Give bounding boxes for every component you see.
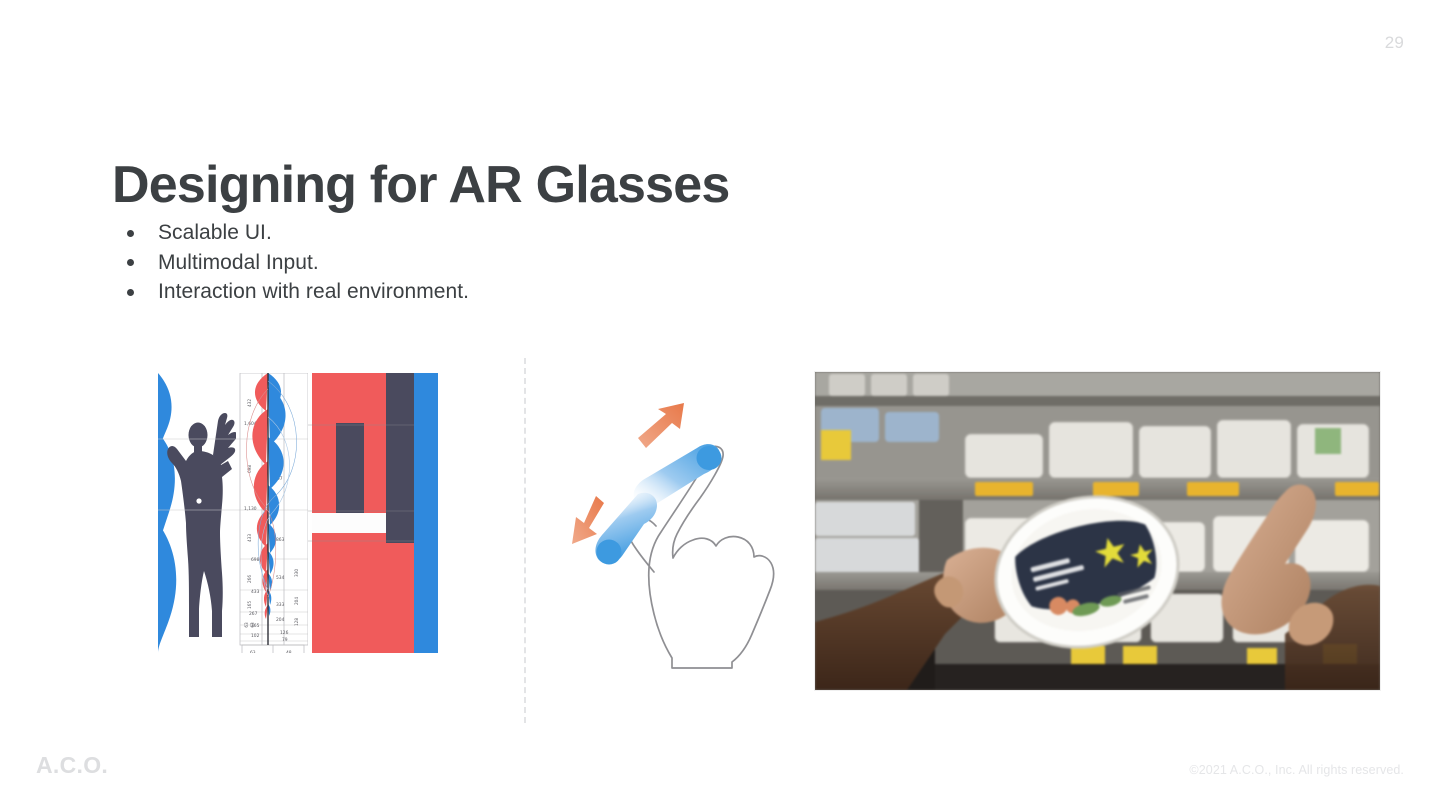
figure-cellphone-gesture: Multimodal Input on Cellphone — [560, 400, 790, 670]
svg-text:204: 204 — [294, 597, 299, 605]
figure-ar-glasses-photo: Multimodal Input on AR glasses — [815, 372, 1380, 690]
page-number: 29 — [1385, 33, 1404, 53]
svg-text:1,130: 1,130 — [244, 506, 257, 512]
bullet-list: Scalable UI. Multimodal Input. Interacti… — [124, 218, 469, 307]
svg-text:102: 102 — [251, 633, 260, 639]
svg-text:698: 698 — [251, 557, 260, 563]
svg-text:63: 63 — [250, 650, 256, 653]
bullet-dot-icon — [127, 289, 134, 296]
svg-text:165: 165 — [251, 623, 260, 629]
list-item: Interaction with real environment. — [124, 277, 469, 307]
svg-text:433: 433 — [251, 589, 260, 595]
svg-text:863: 863 — [276, 537, 285, 543]
column-divider — [524, 358, 526, 723]
svg-text:128: 128 — [294, 618, 299, 626]
ar-glasses-photo-image — [815, 372, 1380, 690]
bullet-dot-icon — [127, 259, 134, 266]
svg-text:432: 432 — [247, 399, 252, 407]
slide-canvas: 29 Designing for AR Glasses Scalable UI.… — [0, 0, 1440, 807]
svg-text:330: 330 — [294, 569, 299, 577]
copyright-notice: ©2021 A.C.O., Inc. All rights reserved. — [1189, 763, 1404, 777]
bullet-dot-icon — [127, 230, 134, 237]
bullet-label: Scalable UI. — [158, 221, 272, 244]
svg-text:126: 126 — [280, 630, 289, 636]
figure-modulor: 432 698 433 266 165 63 63 330 204 128 1,… — [158, 373, 443, 666]
list-item: Scalable UI. — [124, 218, 469, 248]
arrow-up-right-icon — [638, 403, 684, 448]
svg-text:204: 204 — [276, 617, 285, 623]
arrow-down-left-icon — [572, 496, 604, 544]
bullet-label: Multimodal Input. — [158, 251, 319, 274]
svg-text:165: 165 — [247, 601, 252, 609]
svg-text:266: 266 — [247, 575, 252, 583]
svg-text:267: 267 — [249, 611, 258, 617]
svg-text:79: 79 — [282, 637, 288, 643]
svg-text:48: 48 — [286, 650, 292, 653]
page-title: Designing for AR Glasses — [112, 157, 729, 213]
brand-logo: A.C.O. — [36, 752, 108, 779]
svg-text:534: 534 — [276, 575, 285, 581]
svg-text:433: 433 — [247, 534, 252, 542]
bullet-label: Interaction with real environment. — [158, 280, 469, 303]
svg-text:63: 63 — [244, 622, 249, 628]
svg-text:333: 333 — [276, 602, 285, 608]
list-item: Multimodal Input. — [124, 248, 469, 278]
pinch-gesture-illustration — [560, 400, 790, 670]
modulor-diagram-image: 432 698 433 266 165 63 63 330 204 128 1,… — [158, 373, 443, 653]
